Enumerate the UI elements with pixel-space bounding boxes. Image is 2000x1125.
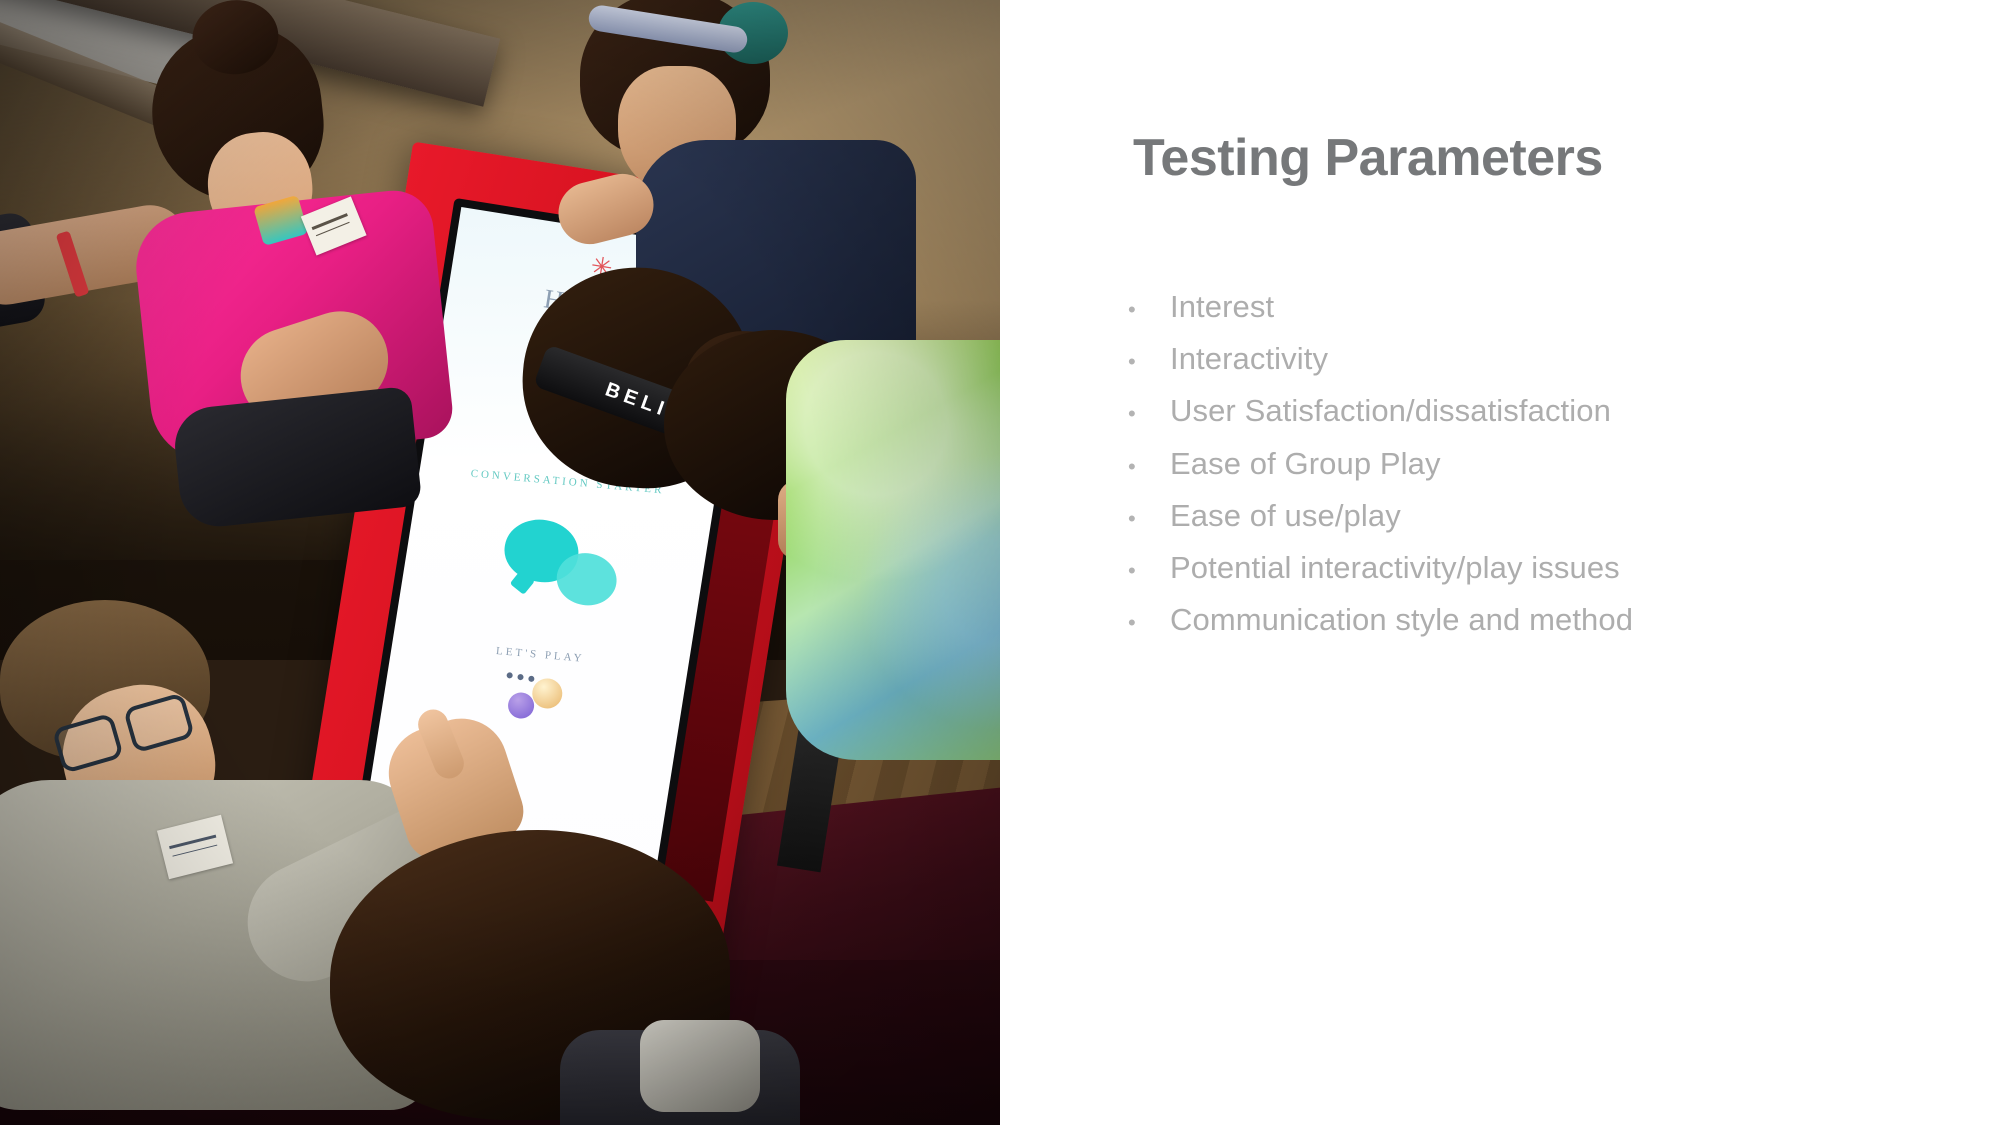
child-leg	[171, 386, 422, 530]
child-tiedye-shirt	[700, 330, 1000, 750]
list-item: • Communication style and method	[1128, 603, 1888, 638]
bullet-marker-icon: •	[1128, 612, 1170, 634]
list-item: • Interest	[1128, 290, 1888, 325]
bullet-marker-icon: •	[1128, 299, 1170, 321]
bullet-marker-icon: •	[1128, 456, 1170, 478]
child-tiedye-shirt-body	[786, 340, 1000, 760]
list-item: • Interactivity	[1128, 342, 1888, 377]
list-item: • Ease of use/play	[1128, 499, 1888, 534]
list-item-label: Potential interactivity/play issues	[1170, 551, 1620, 586]
list-item-label: Interest	[1170, 290, 1274, 325]
text-panel: Testing Parameters • Interest • Interact…	[1000, 0, 2000, 1125]
bullet-marker-icon: •	[1128, 403, 1170, 425]
testing-parameters-list: • Interest • Interactivity • User Satisf…	[1128, 290, 1888, 656]
list-item-label: Ease of use/play	[1170, 499, 1401, 534]
list-item-label: Interactivity	[1170, 342, 1328, 377]
list-item: • Ease of Group Play	[1128, 447, 1888, 482]
list-item-label: Ease of Group Play	[1170, 447, 1441, 482]
photo-children-touchscreen-table: ✳ HOME OUR FOOD CONVERSATION STARTER LET…	[0, 0, 1000, 1125]
bullet-marker-icon: •	[1128, 351, 1170, 373]
bullet-marker-icon: •	[1128, 508, 1170, 530]
child-bottom-foreground	[330, 830, 750, 1125]
child-pink-jacket	[118, 4, 492, 476]
list-item: • User Satisfaction/dissatisfaction	[1128, 394, 1888, 429]
list-item-label: User Satisfaction/dissatisfaction	[1170, 394, 1611, 429]
list-item: • Potential interactivity/play issues	[1128, 551, 1888, 586]
presentation-slide: ✳ HOME OUR FOOD CONVERSATION STARTER LET…	[0, 0, 2000, 1125]
list-item-label: Communication style and method	[1170, 603, 1633, 638]
slide-title: Testing Parameters	[1133, 128, 1603, 188]
child-shoe	[640, 1020, 760, 1112]
bullet-marker-icon: •	[1128, 560, 1170, 582]
